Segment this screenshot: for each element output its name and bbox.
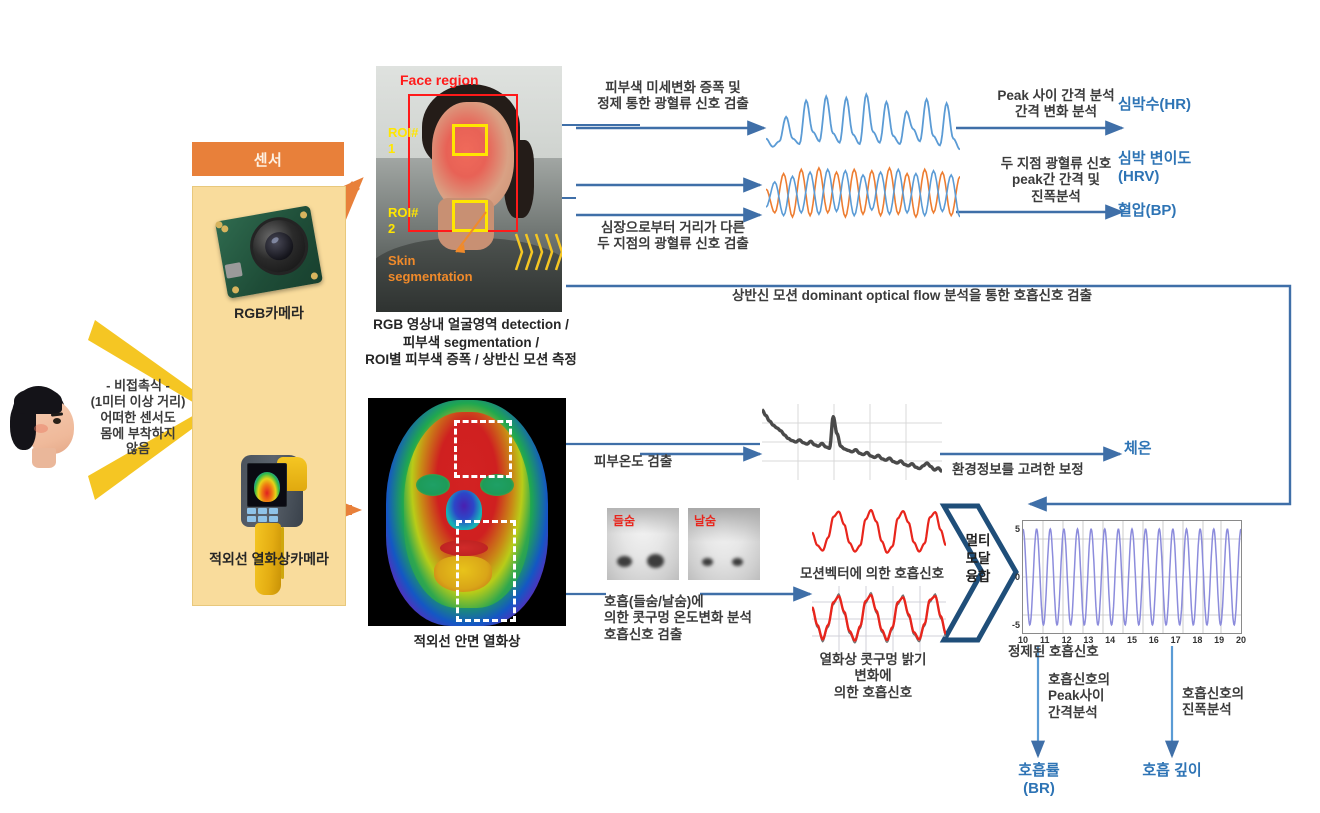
rgb-stage-caption: RGB 영상내 얼굴영역 detection / 피부색 segmentatio… [346,316,596,369]
subject-avatar [8,386,80,468]
label-optical-flow: 상반신 모션 dominant optical flow 분석을 통한 호흡신호… [612,288,1212,304]
diagram-canvas: - 비접촉식 - (1미터 이상 거리) 어떠한 센서도 몸에 부착하지 않음 … [0,0,1320,813]
thermal-face-image [368,398,566,626]
nostril-inhale-image: 들숨 [607,508,679,580]
thermal-roi-nose-mouth [456,520,516,622]
output-br: 호흡률 (BR) [984,762,1094,799]
rgb-camera-icon [215,205,323,298]
label-ppg-extract: 피부색 미세변화 증폭 및 정제 통한 광혈류 신호 검출 [578,80,768,113]
sensor-panel-header: 센서 [192,142,344,176]
sensor-panel: RGB카메라 적외선 열화상카메라 [192,186,346,606]
chart-refined-respiration: 50-5 1011121314151617181920 [1022,520,1242,634]
nostril-inhale-label: 들숨 [613,512,635,529]
label-two-point-ppg: 심장으로부터 거리가 다른 두 지점의 광혈류 신호 검출 [578,220,768,253]
chart-x-tick: 20 [1236,635,1246,645]
thermal-roi-forehead [454,420,512,478]
nostril-exhale-label: 날숨 [694,512,716,529]
chart-y-tick: 5 [1015,524,1020,534]
label-motion-vector-resp: 모션벡터에 의한 호흡신호 [782,566,962,582]
motion-chevrons-icon [512,230,562,274]
output-temp: 체온 [1124,440,1244,458]
subject-note-text: - 비접촉식 - (1미터 이상 거리) 어떠한 센서도 몸에 부착하지 않음 [78,378,198,457]
chart-motion-vector-respiration [812,506,946,564]
sensor-item-label-rgb: RGB카메라 [193,305,345,323]
sensor-item-label-thermal: 적외선 열화상카메라 [193,551,345,569]
chart-ppg-single [766,88,960,162]
label-multimodal-fusion: 멀티 모달 융합 [958,532,998,587]
label-resp-amplitude: 호흡신호의 진폭분석 [1182,686,1292,719]
label-thermal-nostril-resp: 열화상 콧구멍 밝기 변화에 의한 호흡신호 [790,652,956,701]
chart-thermal-nostril-respiration [812,586,946,652]
chart-ppg-dual [766,158,960,234]
face-region-label: Face region [400,72,479,89]
thermal-camera-icon [237,455,315,595]
output-breath-depth: 호흡 깊이 [1112,762,1232,780]
chart-skin-temperature [762,404,942,480]
chart-x-tick: 18 [1192,635,1202,645]
label-skin-temp: 피부온도 검출 [594,454,744,470]
roi-1-label: ROI# 1 [388,125,418,157]
output-hrv: 심박 변이도 (HRV) [1118,150,1278,187]
skin-segmentation-label: Skin segmentation [388,253,473,285]
roi-1-box [452,124,488,156]
nostril-exhale-image: 날숨 [688,508,760,580]
label-env-correction: 환경정보를 고려한 보정 [952,462,1130,478]
chart-y-tick: -5 [1012,620,1020,630]
thermal-stage-caption: 적외선 안면 열화상 [366,634,568,650]
label-nostril-temp: 호흡(들숨/날숨)에 의한 콧구멍 온도변화 분석 호흡신호 검출 [604,594,790,643]
output-hr: 심박수(HR) [1118,96,1278,114]
chart-x-tick: 19 [1214,635,1224,645]
roi-2-label: ROI# 2 [388,205,418,237]
label-resp-peak-interval: 호흡신호의 Peak사이 간격분석 [1048,672,1158,721]
label-refined-resp: 정제된 호흡신호 [1008,644,1188,660]
output-bp: 혈압(BP) [1118,202,1278,220]
chart-y-tick: 0 [1015,572,1020,582]
